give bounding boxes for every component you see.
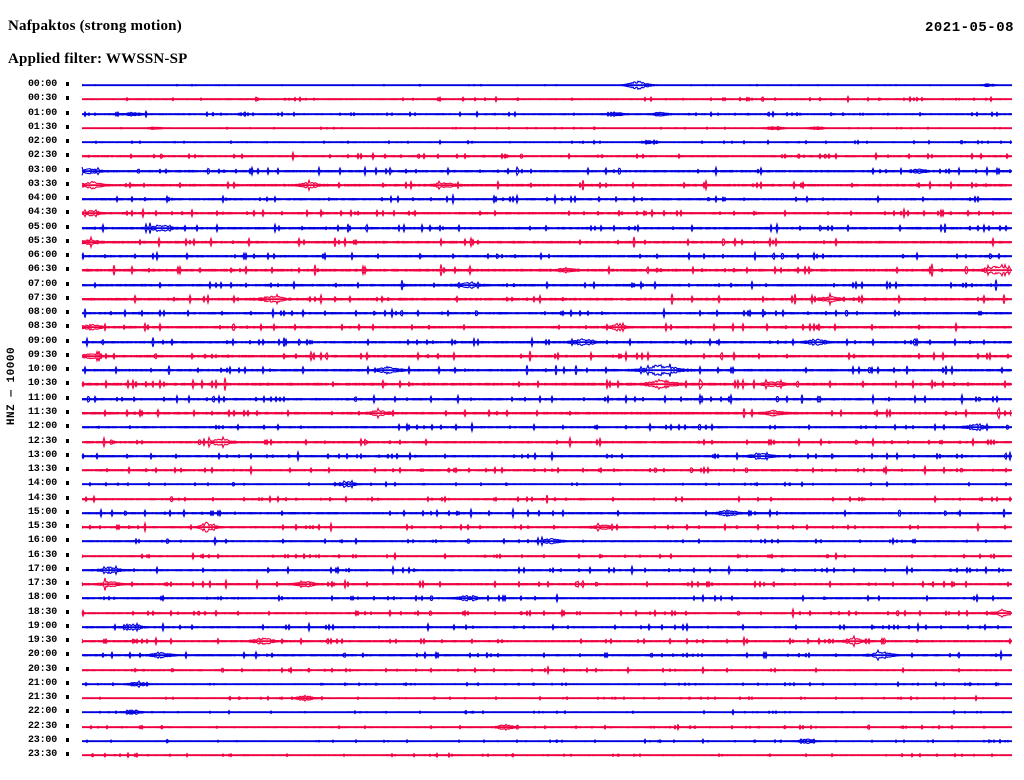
row-time-label: 15:30: [28, 521, 64, 532]
row-tick-mark: [66, 353, 69, 357]
row-tick-mark: [66, 524, 69, 528]
trace-row[interactable]: 15:30: [0, 520, 1024, 535]
row-tick-mark: [66, 681, 69, 685]
trace-row[interactable]: 00:00: [0, 78, 1024, 93]
row-time-label: 21:30: [28, 692, 64, 703]
row-time-label: 14:30: [28, 493, 64, 504]
trace-row[interactable]: 21:30: [0, 691, 1024, 706]
trace-row[interactable]: 08:00: [0, 306, 1024, 321]
row-tick-mark: [66, 253, 69, 257]
row-time-label: 13:30: [28, 464, 64, 475]
row-time-label: 09:30: [28, 350, 64, 361]
row-time-label: 02:00: [28, 136, 64, 147]
seismic-trace[interactable]: [82, 178, 1012, 193]
row-tick-mark: [66, 239, 69, 243]
seismic-trace[interactable]: [82, 278, 1012, 293]
row-time-label: 16:00: [28, 535, 64, 546]
seismic-trace[interactable]: [82, 420, 1012, 435]
row-tick-mark: [66, 709, 69, 713]
row-time-label: 19:30: [28, 635, 64, 646]
trace-row[interactable]: 10:00: [0, 363, 1024, 378]
row-tick-mark: [66, 267, 69, 271]
row-time-label: 06:30: [28, 264, 64, 275]
seismic-trace[interactable]: [82, 677, 1012, 692]
row-tick-mark: [66, 724, 69, 728]
row-time-label: 13:00: [28, 450, 64, 461]
row-tick-mark: [66, 125, 69, 129]
row-time-label: 07:30: [28, 293, 64, 304]
trace-row[interactable]: 22:30: [0, 720, 1024, 735]
trace-row[interactable]: 19:30: [0, 634, 1024, 649]
seismic-trace[interactable]: [82, 606, 1012, 621]
seismic-trace[interactable]: [82, 549, 1012, 564]
row-time-label: 06:00: [28, 250, 64, 261]
row-time-label: 12:30: [28, 436, 64, 447]
seismic-trace[interactable]: [82, 149, 1012, 164]
row-tick-mark: [66, 396, 69, 400]
seismic-trace[interactable]: [82, 477, 1012, 492]
seismic-trace[interactable]: [82, 363, 1012, 378]
row-time-label: 15:00: [28, 507, 64, 518]
seismic-trace[interactable]: [82, 406, 1012, 421]
row-time-label: 08:00: [28, 307, 64, 318]
trace-row[interactable]: 23:00: [0, 734, 1024, 749]
trace-row[interactable]: 06:30: [0, 263, 1024, 278]
seismic-trace[interactable]: [82, 534, 1012, 549]
seismic-trace[interactable]: [82, 320, 1012, 335]
seismic-trace[interactable]: [82, 377, 1012, 392]
seismic-trace[interactable]: [82, 634, 1012, 649]
row-tick-mark: [66, 339, 69, 343]
row-tick-mark: [66, 153, 69, 157]
trace-row[interactable]: 01:30: [0, 121, 1024, 136]
seismic-trace[interactable]: [82, 206, 1012, 221]
seismic-trace[interactable]: [82, 563, 1012, 578]
trace-row[interactable]: 12:00: [0, 420, 1024, 435]
row-time-label: 14:00: [28, 478, 64, 489]
row-tick-mark: [66, 510, 69, 514]
seismic-trace[interactable]: [82, 449, 1012, 464]
trace-row[interactable]: 02:00: [0, 135, 1024, 150]
helicorder-plot[interactable]: 00:0000:3001:0001:3002:0002:3003:0003:30…: [0, 78, 1024, 778]
trace-row[interactable]: 20:30: [0, 663, 1024, 678]
trace-row[interactable]: 19:00: [0, 620, 1024, 635]
trace-row[interactable]: 11:30: [0, 406, 1024, 421]
row-tick-mark: [66, 96, 69, 100]
seismic-trace[interactable]: [82, 663, 1012, 678]
row-tick-mark: [66, 652, 69, 656]
row-time-label: 00:30: [28, 93, 64, 104]
row-time-label: 09:00: [28, 336, 64, 347]
seismic-trace[interactable]: [82, 705, 1012, 720]
row-tick-mark: [66, 196, 69, 200]
row-time-label: 20:30: [28, 664, 64, 675]
row-tick-mark: [66, 453, 69, 457]
row-tick-mark: [66, 410, 69, 414]
row-tick-mark: [66, 595, 69, 599]
row-tick-mark: [66, 738, 69, 742]
row-time-label: 11:00: [28, 393, 64, 404]
trace-row[interactable]: 07:30: [0, 292, 1024, 307]
row-tick-mark: [66, 638, 69, 642]
row-tick-mark: [66, 467, 69, 471]
seismic-trace[interactable]: [82, 720, 1012, 735]
row-tick-mark: [66, 439, 69, 443]
trace-row[interactable]: 17:30: [0, 577, 1024, 592]
row-tick-mark: [66, 538, 69, 542]
trace-row[interactable]: 03:00: [0, 164, 1024, 179]
row-tick-mark: [66, 82, 69, 86]
trace-row[interactable]: 09:00: [0, 335, 1024, 350]
trace-row[interactable]: 00:30: [0, 92, 1024, 107]
row-tick-mark: [66, 553, 69, 557]
row-tick-mark: [66, 610, 69, 614]
row-time-label: 08:30: [28, 321, 64, 332]
row-time-label: 19:00: [28, 621, 64, 632]
row-time-label: 22:30: [28, 721, 64, 732]
seismic-trace[interactable]: [82, 221, 1012, 236]
trace-row[interactable]: 15:00: [0, 506, 1024, 521]
seismic-trace[interactable]: [82, 435, 1012, 450]
seismic-trace[interactable]: [82, 107, 1012, 122]
row-time-label: 01:30: [28, 122, 64, 133]
trace-row[interactable]: 07:00: [0, 278, 1024, 293]
row-tick-mark: [66, 581, 69, 585]
row-time-label: 18:00: [28, 592, 64, 603]
seismic-trace[interactable]: [82, 92, 1012, 107]
seismic-trace[interactable]: [82, 292, 1012, 307]
row-time-label: 03:30: [28, 179, 64, 190]
row-time-label: 10:00: [28, 364, 64, 375]
trace-row[interactable]: 05:30: [0, 235, 1024, 250]
helicorder-page: Nafpaktos (strong motion) Applied filter…: [0, 0, 1024, 780]
row-tick-mark: [66, 695, 69, 699]
trace-row[interactable]: 01:00: [0, 107, 1024, 122]
seismic-trace[interactable]: [82, 349, 1012, 364]
seismic-trace[interactable]: [82, 249, 1012, 264]
seismic-trace[interactable]: [82, 306, 1012, 321]
trace-row[interactable]: 21:00: [0, 677, 1024, 692]
row-time-label: 00:00: [28, 79, 64, 90]
row-tick-mark: [66, 139, 69, 143]
seismic-trace[interactable]: [82, 648, 1012, 663]
trace-row[interactable]: 18:00: [0, 591, 1024, 606]
row-tick-mark: [66, 624, 69, 628]
row-time-label: 12:00: [28, 421, 64, 432]
seismic-trace[interactable]: [82, 335, 1012, 350]
row-tick-mark: [66, 381, 69, 385]
row-time-label: 05:00: [28, 222, 64, 233]
trace-row[interactable]: 04:00: [0, 192, 1024, 207]
row-tick-mark: [66, 296, 69, 300]
row-time-label: 01:00: [28, 108, 64, 119]
row-time-label: 16:30: [28, 550, 64, 561]
trace-row[interactable]: 14:00: [0, 477, 1024, 492]
row-time-label: 02:30: [28, 150, 64, 161]
seismic-trace[interactable]: [82, 591, 1012, 606]
trace-row[interactable]: 18:30: [0, 606, 1024, 621]
applied-filter-label: Applied filter: WWSSN-SP: [8, 51, 188, 68]
trace-row[interactable]: 14:30: [0, 492, 1024, 507]
row-time-label: 23:30: [28, 749, 64, 760]
seismic-trace[interactable]: [82, 192, 1012, 207]
row-time-label: 04:30: [28, 207, 64, 218]
seismic-trace[interactable]: [82, 492, 1012, 507]
trace-row[interactable]: 13:00: [0, 449, 1024, 464]
trace-row[interactable]: 03:30: [0, 178, 1024, 193]
seismic-trace[interactable]: [82, 392, 1012, 407]
row-tick-mark: [66, 111, 69, 115]
seismic-trace[interactable]: [82, 463, 1012, 478]
seismic-trace[interactable]: [82, 78, 1012, 93]
seismic-trace[interactable]: [82, 263, 1012, 278]
row-tick-mark: [66, 182, 69, 186]
seismic-trace[interactable]: [82, 164, 1012, 179]
trace-row[interactable]: 13:30: [0, 463, 1024, 478]
trace-row[interactable]: 16:30: [0, 549, 1024, 564]
row-time-label: 20:00: [28, 649, 64, 660]
row-tick-mark: [66, 282, 69, 286]
seismic-trace[interactable]: [82, 620, 1012, 635]
row-time-label: 17:30: [28, 578, 64, 589]
row-time-label: 21:00: [28, 678, 64, 689]
trace-row[interactable]: 06:00: [0, 249, 1024, 264]
trace-row[interactable]: 11:00: [0, 392, 1024, 407]
row-time-label: 17:00: [28, 564, 64, 575]
trace-row[interactable]: 04:30: [0, 206, 1024, 221]
date-label: 2021-05-08: [925, 20, 1014, 36]
row-tick-mark: [66, 496, 69, 500]
row-tick-mark: [66, 752, 69, 756]
trace-row[interactable]: 09:30: [0, 349, 1024, 364]
row-tick-mark: [66, 424, 69, 428]
row-tick-mark: [66, 168, 69, 172]
row-tick-mark: [66, 310, 69, 314]
row-time-label: 07:00: [28, 279, 64, 290]
seismic-trace[interactable]: [82, 520, 1012, 535]
trace-row[interactable]: 02:30: [0, 149, 1024, 164]
seismic-trace[interactable]: [82, 577, 1012, 592]
row-time-label: 10:30: [28, 378, 64, 389]
trace-row[interactable]: 22:00: [0, 705, 1024, 720]
row-time-label: 04:00: [28, 193, 64, 204]
row-time-label: 23:00: [28, 735, 64, 746]
row-time-label: 18:30: [28, 607, 64, 618]
row-time-label: 03:00: [28, 165, 64, 176]
row-time-label: 05:30: [28, 236, 64, 247]
trace-row[interactable]: 12:30: [0, 435, 1024, 450]
trace-row[interactable]: 05:00: [0, 221, 1024, 236]
seismic-trace[interactable]: [82, 235, 1012, 250]
trace-row[interactable]: 10:30: [0, 377, 1024, 392]
row-tick-mark: [66, 481, 69, 485]
trace-row[interactable]: 17:00: [0, 563, 1024, 578]
row-tick-mark: [66, 225, 69, 229]
trace-row[interactable]: 16:00: [0, 534, 1024, 549]
row-time-label: 11:30: [28, 407, 64, 418]
seismic-trace[interactable]: [82, 506, 1012, 521]
row-tick-mark: [66, 567, 69, 571]
trace-row[interactable]: 20:00: [0, 648, 1024, 663]
row-tick-mark: [66, 367, 69, 371]
row-tick-mark: [66, 210, 69, 214]
row-tick-mark: [66, 324, 69, 328]
seismic-trace[interactable]: [82, 748, 1012, 763]
trace-row[interactable]: 08:30: [0, 320, 1024, 335]
seismic-trace[interactable]: [82, 734, 1012, 749]
seismic-trace[interactable]: [82, 691, 1012, 706]
seismic-trace[interactable]: [82, 121, 1012, 136]
trace-row[interactable]: 23:30: [0, 748, 1024, 763]
seismic-trace[interactable]: [82, 135, 1012, 150]
row-time-label: 22:00: [28, 706, 64, 717]
page-title: Nafpaktos (strong motion): [8, 18, 182, 35]
row-tick-mark: [66, 667, 69, 671]
